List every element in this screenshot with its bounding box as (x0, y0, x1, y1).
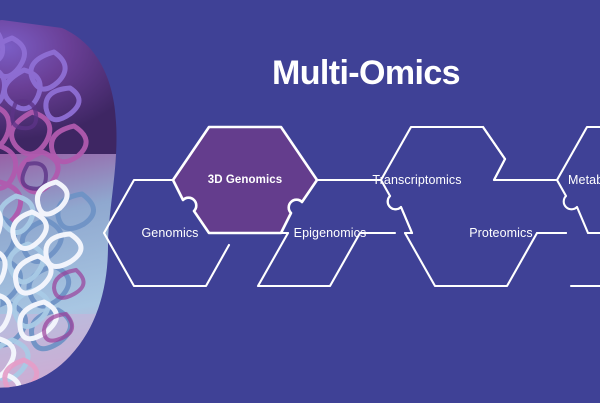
hex-shape-3d-genomics (173, 127, 317, 233)
hex-shape-proteomics (388, 196, 566, 286)
hex-shape-metabolomics (494, 127, 600, 233)
hex-shape-transcriptomics (317, 127, 505, 233)
hexagon-chain-diagram: Genomics 3D Genomics Epigenomics Transcr… (0, 0, 600, 403)
multi-omics-infographic: Multi-Omics (0, 0, 600, 403)
